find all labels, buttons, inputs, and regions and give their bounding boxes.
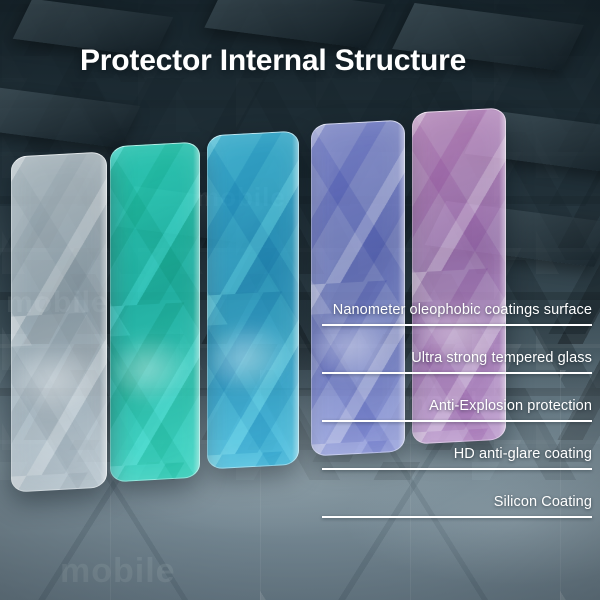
legend-row: HD anti-glare coating xyxy=(322,422,592,470)
legend-label: Silicon Coating xyxy=(494,494,592,510)
layer-legend: Nanometer oleophobic coatings surface Ul… xyxy=(322,278,592,518)
product-infographic: mobile mobile mobile mobile Nanom xyxy=(0,0,600,600)
legend-rule xyxy=(322,516,592,518)
legend-label: Nanometer oleophobic coatings surface xyxy=(333,302,592,318)
legend-row: Silicon Coating xyxy=(322,470,592,518)
legend-row: Anti-Explosion protection xyxy=(322,374,592,422)
page-title: Protector Internal Structure xyxy=(80,44,466,78)
legend-label: HD anti-glare coating xyxy=(454,446,592,462)
legend-row: Ultra strong tempered glass xyxy=(322,326,592,374)
legend-label: Anti-Explosion protection xyxy=(429,398,592,414)
legend-label: Ultra strong tempered glass xyxy=(411,350,592,366)
legend-row: Nanometer oleophobic coatings surface xyxy=(322,278,592,326)
